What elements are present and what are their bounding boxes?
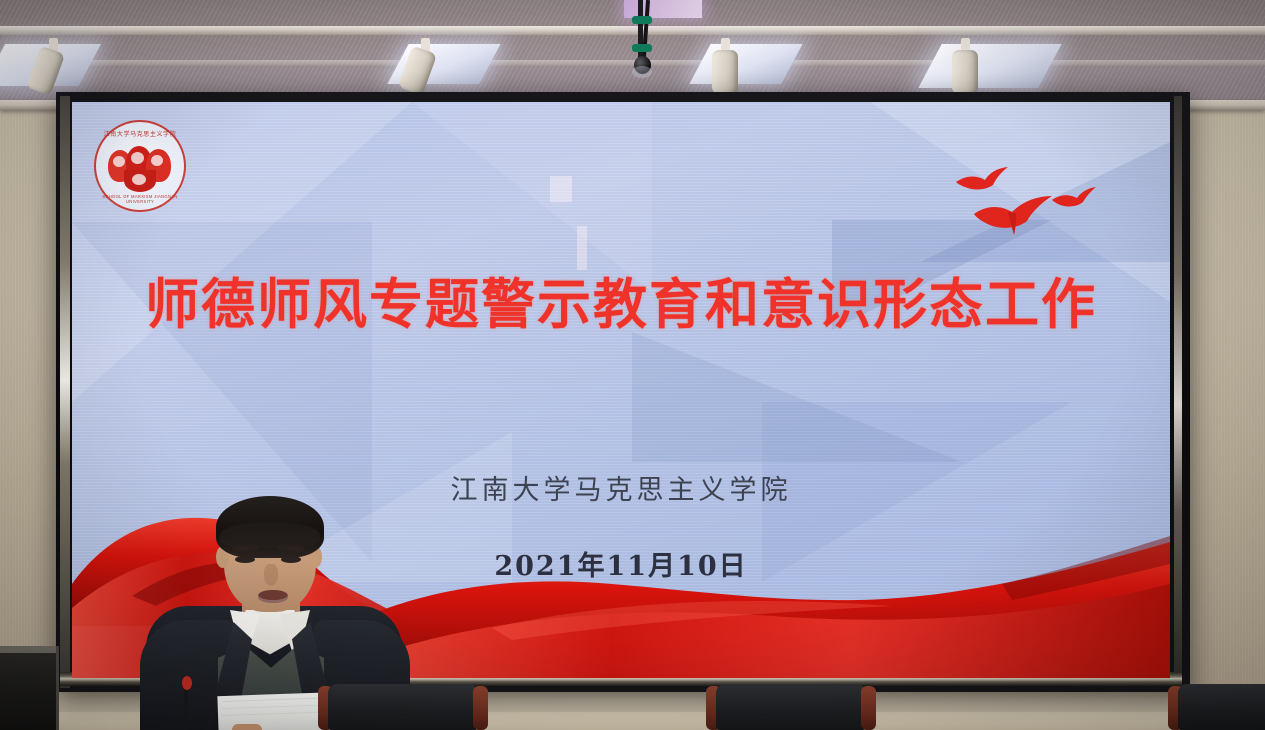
logo-ring-text-bottom: SCHOOL OF MARXISM JIANGNAN UNIVERSITY: [94, 194, 186, 204]
audience-chair: [706, 684, 878, 730]
mouth: [258, 590, 288, 603]
track-spot-light: [952, 38, 978, 92]
screen-bezel-left: [60, 96, 70, 688]
audience-chair: [1168, 684, 1265, 730]
microphone-head: [182, 676, 192, 690]
nose: [264, 564, 278, 586]
spot-light-housing: [712, 50, 738, 94]
spot-light-housing: [952, 50, 978, 94]
dove-icon: [1050, 186, 1098, 212]
dove-icon: [954, 166, 1010, 196]
cable-tie: [632, 44, 652, 52]
track-spot-light: [712, 38, 738, 92]
recessed-panel-light: [918, 44, 1061, 88]
logo-face-highlight: [131, 152, 144, 164]
logo-portrait-heads: [108, 146, 172, 192]
logo-ring-text-top: 江南大学马克思主义学院: [94, 129, 186, 138]
track-spot-light: [40, 38, 66, 92]
eye-right: [281, 556, 301, 563]
school-of-marxism-logo: 江南大学马克思主义学院 SCHOOL OF MARXISM JIANGNAN U…: [94, 120, 186, 212]
slide-title: 师德师风专题警示教育和意识形态工作: [72, 260, 1170, 339]
screen-flare: [550, 176, 572, 202]
cable-tie: [632, 16, 652, 24]
logo-face-highlight: [151, 155, 163, 166]
flying-doves-group: [944, 164, 1104, 244]
logo-face-highlight: [113, 156, 125, 167]
dove-icon: [972, 194, 1054, 236]
chair-arm-right: [473, 686, 488, 730]
chair-back: [716, 684, 866, 730]
cabinet-top: [0, 646, 56, 653]
track-spot-light: [412, 38, 438, 92]
audience-chair: [318, 684, 490, 730]
hanging-camera: [628, 0, 656, 86]
eye-left: [235, 556, 255, 563]
chair-back: [328, 684, 478, 730]
microphone-stem: [184, 686, 188, 730]
chair-back: [1178, 684, 1265, 730]
chair-arm-right: [861, 686, 876, 730]
screen-bezel-right: [1174, 96, 1182, 688]
hand: [232, 724, 262, 730]
podium-microphone: [182, 676, 190, 730]
screenshot-root: 江南大学马克思主义学院 SCHOOL OF MARXISM JIANGNAN U…: [0, 0, 1265, 730]
logo-face-highlight: [132, 174, 146, 185]
side-speaker-cabinet: [0, 646, 59, 730]
camera-glow: [632, 66, 652, 78]
